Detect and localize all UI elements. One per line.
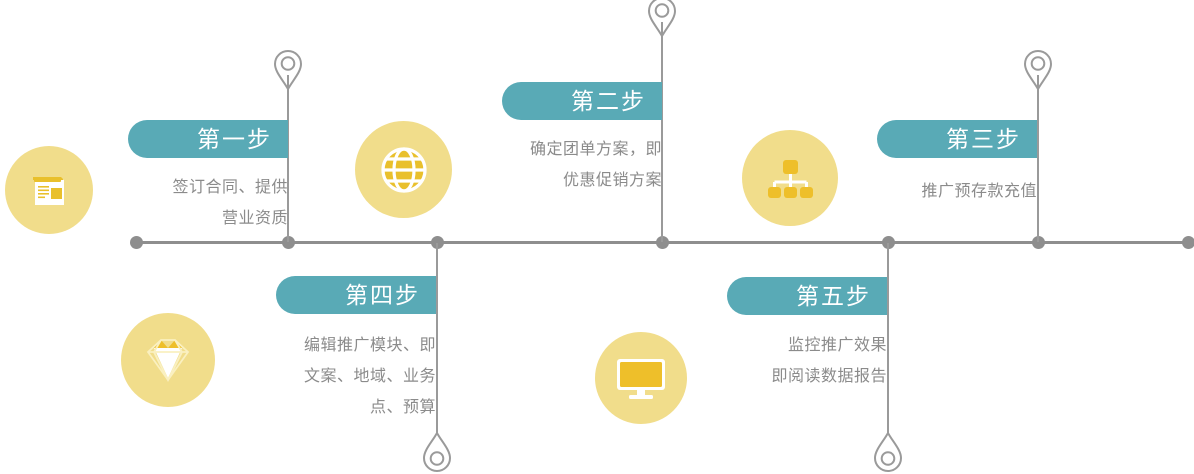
globe-icon [376, 142, 432, 198]
map-pin-icon [271, 48, 305, 92]
step-4-badge: 第四步 [276, 276, 436, 314]
step-5-description: 监控推广效果 即阅读数据报告 [707, 330, 887, 392]
monitor-display-icon [614, 354, 668, 402]
step-3-icon-circle [742, 130, 838, 226]
step-5-badge: 第五步 [727, 277, 887, 315]
timeline-diagram: 第一步 签订合同、提供 营业资质 第二步 确定团单方案，即 优惠促销方案 [0, 0, 1194, 474]
step-2-badge: 第二步 [502, 82, 662, 120]
step-2-description: 确定团单方案，即 优惠促销方案 [480, 134, 662, 196]
step-3-badge: 第三步 [877, 120, 1037, 158]
step-5-icon-circle [595, 332, 687, 424]
connector-line-step-2 [661, 22, 663, 242]
step-2-icon-circle [355, 121, 452, 218]
step-4-icon-circle [121, 313, 215, 407]
map-pin-icon [645, 0, 679, 39]
step-4-description: 编辑推广模块、即 文案、地域、业务 点、预算 [254, 330, 436, 423]
map-pin-icon [420, 430, 454, 474]
connector-line-step-3 [1037, 75, 1039, 242]
connector-line-step-4 [436, 243, 438, 433]
diamond-gem-icon [140, 334, 196, 386]
connector-line-step-5 [887, 243, 889, 433]
step-1-badge: 第一步 [128, 120, 288, 158]
map-pin-icon [1021, 48, 1055, 92]
step-1-description: 签订合同、提供 营业资质 [108, 172, 288, 234]
contract-document-icon [26, 167, 72, 213]
step-1-icon-circle [5, 146, 93, 234]
timeline-dot [130, 236, 143, 249]
map-pin-icon [871, 430, 905, 474]
org-chart-icon [763, 151, 817, 205]
step-3-description: 推广预存款充值 [857, 176, 1037, 207]
timeline-dot [1182, 236, 1194, 249]
